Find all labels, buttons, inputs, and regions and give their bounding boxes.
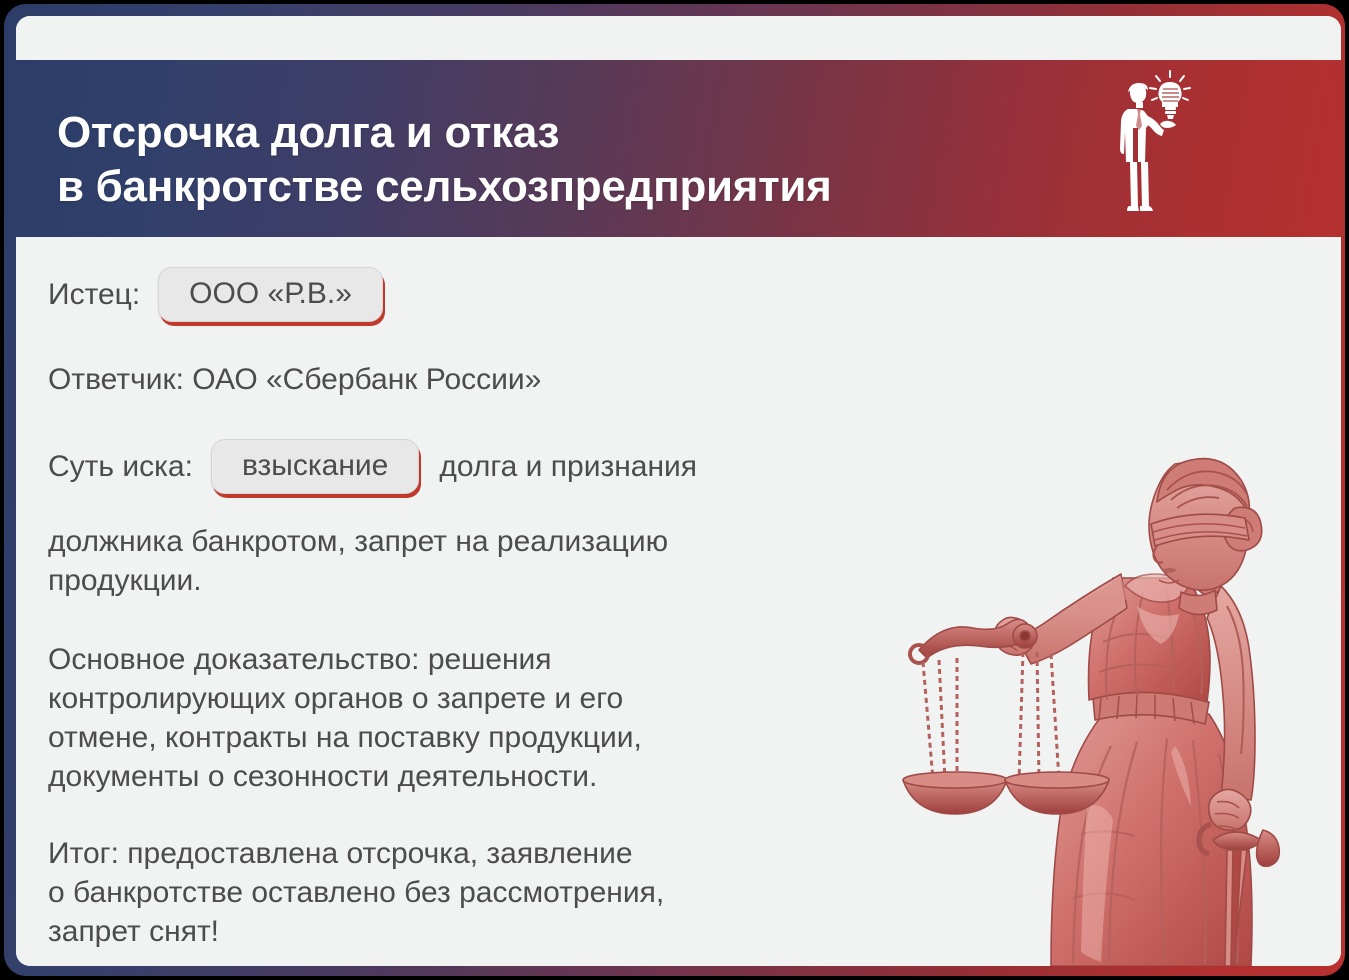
businessman-with-lightbulb-icon (1108, 70, 1198, 230)
lady-justice-scales-sword-icon (875, 446, 1341, 966)
claim-label: Суть иска: (48, 447, 193, 486)
page-title: Отсрочка долга и отказ в банкротстве сел… (57, 106, 1057, 213)
card-body: Истец: ООО «Р.В.» Ответчик: ОАО «Сбербан… (16, 237, 1341, 966)
case-summary: Истец: ООО «Р.В.» Ответчик: ОАО «Сбербан… (48, 255, 928, 951)
outer-gradient-frame: Отсрочка долга и отказ в банкротстве сел… (4, 4, 1345, 976)
defendant-row: Ответчик: ОАО «Сбербанк России» (48, 360, 928, 399)
evidence-text: Основное доказательство: решения контрол… (48, 640, 928, 796)
plaintiff-label: Истец: (48, 275, 140, 314)
plaintiff-value-pill[interactable]: ООО «Р.В.» (158, 267, 383, 322)
plaintiff-row: Истец: ООО «Р.В.» (48, 267, 928, 322)
claim-value-pill[interactable]: взыскание (211, 439, 419, 494)
claim-row: Суть иска: взыскание долга и признания (48, 439, 928, 494)
info-card: Отсрочка долга и отказ в банкротстве сел… (16, 16, 1341, 966)
card-top-strip (16, 16, 1341, 60)
claim-continuation-text: должника банкротом, запрет на реализацию… (48, 522, 928, 600)
card-header-band: Отсрочка долга и отказ в банкротстве сел… (16, 60, 1341, 237)
claim-tail-text: долга и признания (439, 447, 697, 486)
result-text: Итог: предоставлена отсрочка, заявление … (48, 834, 928, 951)
defendant-text: Ответчик: ОАО «Сбербанк России» (48, 360, 541, 399)
